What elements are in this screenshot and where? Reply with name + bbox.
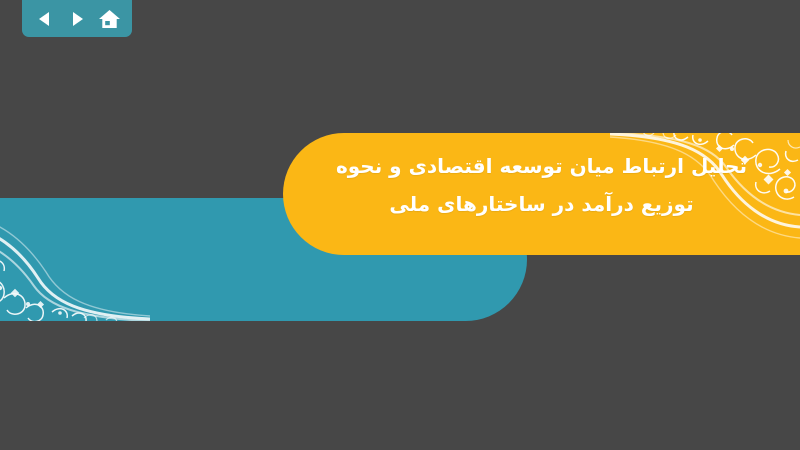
slide-title: تحلیل ارتباط میان توسعه اقتصادی و نحوه ت… xyxy=(283,133,800,223)
title-plate: تحلیل ارتباط میان توسعه اقتصادی و نحوه ت… xyxy=(283,133,800,255)
forward-button[interactable] xyxy=(63,5,91,33)
back-icon xyxy=(35,9,55,29)
home-button[interactable] xyxy=(95,5,123,33)
arabesque-ornament-icon xyxy=(0,198,150,321)
presentation-slide: تحلیل ارتباط میان توسعه اقتصادی و نحوه ت… xyxy=(0,0,800,450)
forward-icon xyxy=(67,9,87,29)
slide-title-line-2: توزیع درآمد در ساختارهای ملی xyxy=(323,185,760,223)
back-button[interactable] xyxy=(31,5,59,33)
slide-title-line-1: تحلیل ارتباط میان توسعه اقتصادی و نحوه xyxy=(323,147,760,185)
home-icon xyxy=(98,8,121,30)
navigation-bar xyxy=(22,0,132,37)
